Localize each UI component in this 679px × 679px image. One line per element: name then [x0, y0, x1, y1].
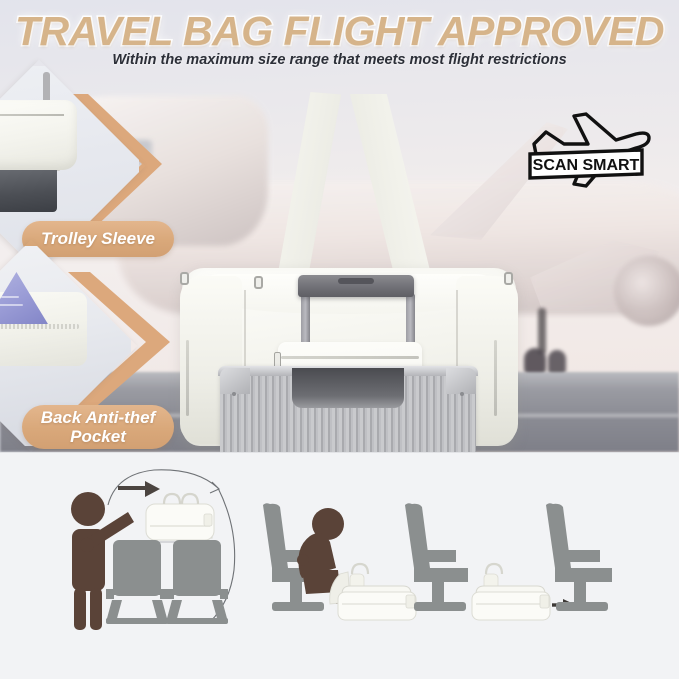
- seat-cushion: [414, 568, 468, 582]
- seat-cushion: [555, 568, 612, 582]
- seat-back: [113, 540, 161, 596]
- bag-under-seat-2: [472, 564, 550, 620]
- underseat-illustration: [263, 503, 612, 620]
- fit-diagram-section: Fit for Overhead Bin Fit for Underseat: [0, 452, 679, 679]
- front-facing-seat: [166, 540, 228, 624]
- bag-handle: [486, 564, 502, 574]
- bag-handle: [352, 564, 368, 574]
- seat-armrest: [414, 550, 456, 562]
- trolley-handle-button: [338, 278, 374, 284]
- front-facing-seat: [106, 540, 168, 624]
- seat-foot: [414, 602, 466, 611]
- bag-handle: [164, 494, 180, 504]
- person-hand: [297, 554, 309, 566]
- seat-foot: [556, 602, 608, 611]
- seat-pedestal: [290, 582, 302, 604]
- card-detail: [1, 296, 19, 298]
- bag-front-zipper: [281, 356, 419, 359]
- person-head: [71, 492, 105, 526]
- bag-in-overhead-bin: [146, 494, 214, 540]
- arc-arrowhead-icon: [210, 482, 219, 493]
- callout-label-anti-theft-pocket: Back Anti-thef Pocket: [22, 405, 174, 449]
- section-divider: [0, 452, 679, 453]
- callout-label-text-line1: Back Anti-thef: [41, 408, 156, 427]
- callout-label-text: Trolley Sleeve: [41, 229, 155, 248]
- callout-label-text-line2: Pocket: [70, 427, 126, 446]
- bag-under-seat-1: [330, 564, 416, 620]
- suitcase-top: [0, 166, 57, 212]
- fit-illustrations: [0, 452, 679, 679]
- hero-photo-section: SCAN SMART: [0, 0, 679, 452]
- suitcase-corner-guard: [220, 368, 250, 394]
- diamond-photo-anti-theft-pocket: [0, 271, 106, 421]
- overhead-bin-illustration: [71, 470, 235, 630]
- seat-foot: [272, 602, 324, 611]
- bag-handle: [182, 494, 198, 504]
- strap-ring: [254, 276, 263, 289]
- anti-theft-pocket-zipper: [0, 324, 79, 329]
- person-leg-right: [90, 588, 102, 630]
- seat-base: [106, 589, 168, 599]
- seat-pedestal: [432, 582, 444, 604]
- seat-armrest: [555, 550, 600, 562]
- product-infographic: SCAN SMART: [0, 0, 679, 679]
- suitcase-corner-guard: [446, 368, 476, 394]
- person-leg-left: [74, 588, 86, 630]
- suitcase-rivet: [232, 392, 236, 396]
- callout-label-trolley-sleeve: Trolley Sleeve: [22, 221, 174, 257]
- seat-foot: [106, 618, 168, 624]
- seat-pedestal: [574, 582, 586, 604]
- strap-ring: [504, 272, 513, 285]
- lift-arrow-icon: [118, 481, 160, 497]
- scan-smart-logo-text: SCAN SMART: [533, 157, 640, 174]
- diamond-photo-trolley-sleeve: [0, 91, 114, 241]
- seat-foot: [166, 618, 228, 624]
- landing-gear-strut: [538, 308, 546, 354]
- side-facing-seat: [546, 503, 612, 611]
- seat-base: [166, 589, 228, 599]
- seat-back: [173, 540, 221, 596]
- page-title: TRAVEL BAG FLIGHT APPROVED: [0, 8, 679, 55]
- scan-smart-logo: SCAN SMART: [516, 100, 656, 192]
- sleeve-zipper: [0, 114, 64, 116]
- suitcase-handle-recess: [292, 368, 404, 408]
- card-detail: [0, 304, 23, 306]
- bag-trolley-sleeve-closeup: [0, 100, 77, 170]
- bag-side-zipper: [494, 340, 497, 416]
- person-hand: [80, 538, 94, 552]
- page-subtitle: Within the maximum size range that meets…: [0, 52, 679, 68]
- airplane-engine: [614, 256, 679, 326]
- suitcase-rivet: [460, 392, 464, 396]
